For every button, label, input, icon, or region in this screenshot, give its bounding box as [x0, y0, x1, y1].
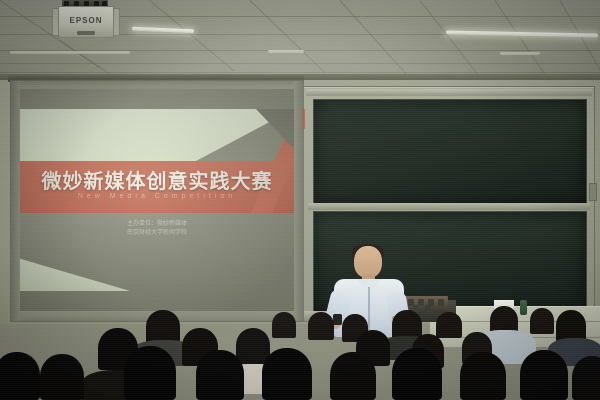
- slide-title: 微妙新媒体创意实践大赛: [20, 165, 294, 194]
- audience-head: [530, 308, 554, 334]
- fluorescent-tube-far-left: [10, 51, 130, 54]
- audience-head: [308, 312, 334, 340]
- audience-head: [460, 352, 506, 400]
- audience-seating: [0, 300, 600, 400]
- projection-screen[interactable]: 微妙新媒体创意实践大赛 New Media Competition 主办单位：微…: [10, 80, 302, 320]
- blackboard-edge-marker: [302, 109, 305, 129]
- screen-edge-left: [11, 81, 20, 321]
- audience-head: [146, 310, 180, 344]
- ceiling-mounted-projector: EPSON: [52, 0, 118, 44]
- screen-surface: 微妙新媒体创意实践大赛 New Media Competition 主办单位：微…: [10, 80, 304, 322]
- audience-head: [0, 352, 40, 400]
- blackboard-top-lip: [306, 89, 592, 96]
- projector-body: EPSON: [58, 6, 114, 38]
- blackboard-divider: [308, 203, 590, 210]
- audience-head: [392, 348, 442, 400]
- audience-head: [330, 352, 376, 400]
- audience-head: [436, 312, 462, 338]
- projector-lens: [77, 31, 95, 35]
- slide-subtitle: New Media Competition: [20, 193, 294, 200]
- projector-brand-label: EPSON: [59, 16, 113, 25]
- audience-head: [572, 356, 600, 400]
- audience-head: [124, 346, 176, 400]
- blackboard-panel-top[interactable]: [313, 99, 587, 205]
- blackboard-clip: [589, 183, 597, 201]
- slide-organizer-line-2: 南京财经大学新闻学院: [20, 228, 294, 237]
- classroom-photo: EPSON 微妙新媒体创意实践大赛 New Media Competition …: [0, 0, 600, 400]
- projected-slide: 微妙新媒体创意实践大赛 New Media Competition 主办单位：微…: [20, 89, 294, 311]
- audience-head: [196, 350, 244, 400]
- audience-head: [520, 350, 568, 400]
- audience-head: [40, 354, 84, 400]
- audience-head: [272, 312, 296, 338]
- fluorescent-tube-center: [268, 50, 304, 53]
- audience-head: [262, 348, 312, 400]
- slide-organizer-line-1: 主办单位：微妙新媒体: [20, 219, 294, 228]
- fluorescent-tube-far-right: [500, 52, 540, 55]
